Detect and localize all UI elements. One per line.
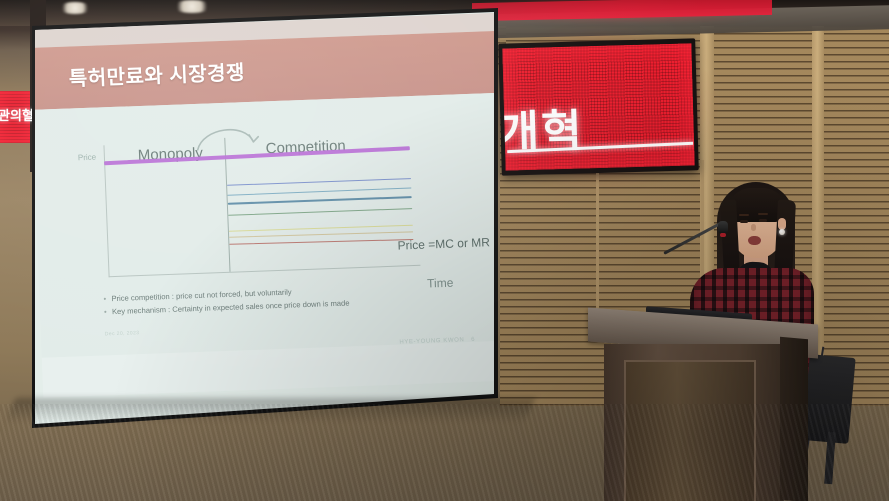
chart-x-axis-label: Time bbox=[427, 276, 454, 291]
microphone-indicator bbox=[720, 233, 726, 237]
slide-date-stamp: Dec 20, 2023 bbox=[105, 330, 140, 337]
slide-surface: 특허만료와 시장경쟁 Price Monopoly Competition Pr… bbox=[28, 8, 498, 428]
transition-arrow-icon bbox=[193, 119, 264, 154]
projection-screen: 특허만료와 시장경쟁 Price Monopoly Competition Pr… bbox=[28, 8, 498, 428]
speaker-earring bbox=[779, 229, 785, 235]
presentation-photo: 관의혈 개혁 특허만료와 시장경쟁 bbox=[0, 0, 889, 501]
carpet-floor bbox=[0, 404, 889, 501]
speaker-nose bbox=[751, 224, 756, 231]
wall-panel-frame bbox=[596, 160, 704, 326]
speaker-brow-left bbox=[739, 214, 749, 216]
slide-content: 특허만료와 시장경쟁 Price Monopoly Competition Pr… bbox=[28, 0, 514, 428]
led-screen-frame: 개혁 bbox=[498, 38, 699, 175]
speaker-eye-left bbox=[740, 220, 748, 223]
slide-page-number: 6 bbox=[471, 337, 475, 343]
speaker-eye-right bbox=[759, 219, 767, 222]
chart-y-axis-label: Price bbox=[78, 153, 97, 163]
led-screen: 개혁 bbox=[502, 43, 694, 170]
speaker-brow-right bbox=[758, 213, 768, 215]
speaker-mouth bbox=[748, 236, 761, 245]
